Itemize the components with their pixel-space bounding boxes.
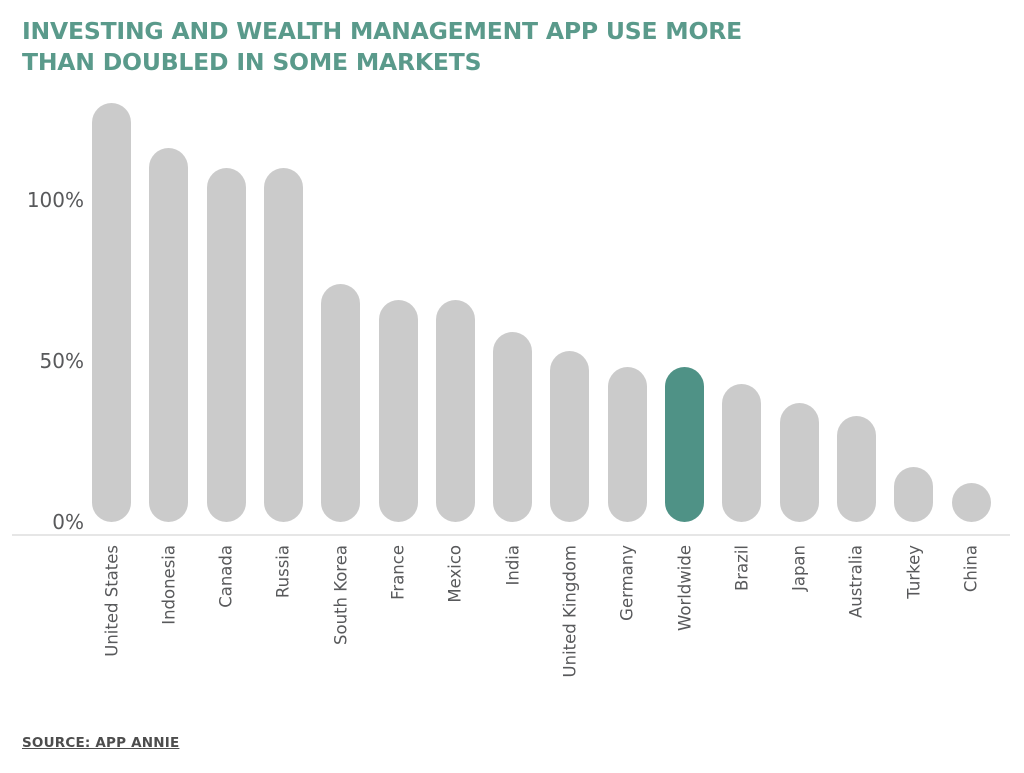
x-tick-label: Australia [848,545,865,618]
bar[interactable] [722,384,761,522]
x-tick-label: Russia [275,545,292,598]
bar-group[interactable]: United States [92,0,131,773]
bar[interactable] [207,168,246,522]
x-tick-label: Worldwide [676,545,693,631]
plot-area: 0%50%100% United StatesIndonesiaCanadaRu… [0,0,1024,773]
bar[interactable] [92,103,131,522]
bar-group[interactable]: Worldwide [665,0,704,773]
bar-group[interactable]: Russia [264,0,303,773]
x-tick-label: Turkey [905,545,922,599]
x-tick-label: France [390,545,407,600]
bar-group[interactable]: United Kingdom [550,0,589,773]
x-tick-label: Japan [791,545,808,591]
bar-group[interactable]: France [379,0,418,773]
bar-group[interactable]: Australia [837,0,876,773]
bar[interactable] [665,367,704,522]
x-tick-label: United States [103,545,120,657]
bar[interactable] [550,351,589,522]
bar-group[interactable]: India [493,0,532,773]
x-tick-label: India [504,545,521,586]
chart-page: INVESTING AND WEALTH MANAGEMENT APP USE … [0,0,1024,773]
bar[interactable] [608,367,647,522]
x-tick-label: Canada [218,545,235,608]
bar-group[interactable]: Turkey [894,0,933,773]
bar-group[interactable]: South Korea [321,0,360,773]
bar-group[interactable]: China [952,0,991,773]
x-tick-label: South Korea [332,545,349,645]
bar[interactable] [952,483,991,522]
bar[interactable] [780,403,819,522]
bar[interactable] [837,416,876,522]
bar[interactable] [264,168,303,522]
source-note: SOURCE: APP ANNIE [22,735,179,751]
bar-group[interactable]: Indonesia [149,0,188,773]
x-tick-label: Germany [619,545,636,621]
bar[interactable] [894,467,933,522]
x-tick-label: Mexico [447,545,464,603]
x-tick-label: Indonesia [160,545,177,625]
bar[interactable] [321,284,360,522]
x-tick-label: China [963,545,980,592]
x-tick-label: United Kingdom [561,545,578,677]
bar-group[interactable]: Germany [608,0,647,773]
bar[interactable] [493,332,532,522]
x-tick-label: Brazil [733,545,750,591]
bar-group[interactable]: Brazil [722,0,761,773]
bar[interactable] [436,300,475,522]
bar[interactable] [379,300,418,522]
bar[interactable] [149,148,188,522]
bar-group[interactable]: Canada [207,0,246,773]
bar-group[interactable]: Japan [780,0,819,773]
bars-layer: United StatesIndonesiaCanadaRussiaSouth … [0,0,1024,773]
bar-group[interactable]: Mexico [436,0,475,773]
